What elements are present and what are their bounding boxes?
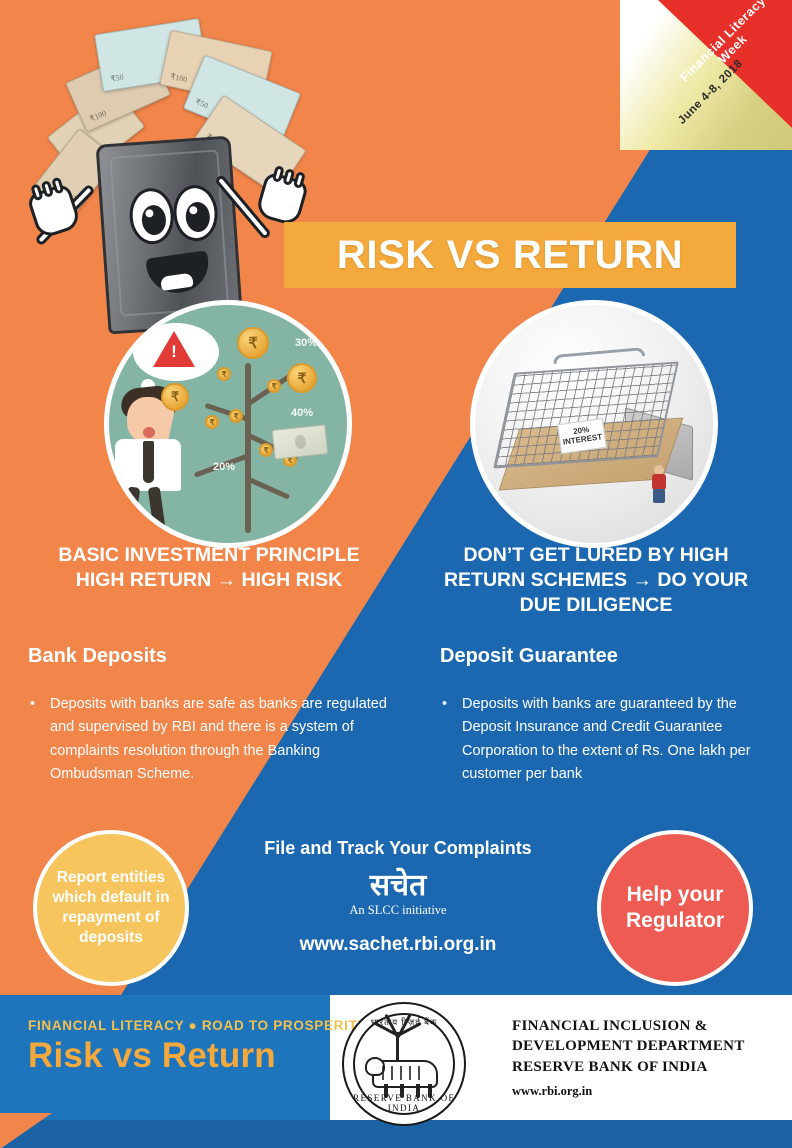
list-item: Deposits with banks are guaranteed by th… — [462, 693, 780, 787]
poster-title: RISK VS RETURN — [337, 233, 683, 278]
help-your-regulator-badge: Help your Regulator — [597, 830, 753, 986]
tree-percent-label: 40% — [291, 407, 313, 419]
complaints-block: File and Track Your Complaints सचेत An S… — [226, 838, 570, 956]
footer-kicker: FINANCIAL LITERACY ● ROAD TO PROSPERITY — [28, 1018, 367, 1033]
poster-root: Financial Literacy Week June 4-8, 2018 ₹… — [0, 0, 792, 1148]
trap-wire-cage — [493, 361, 679, 468]
footer-department: FINANCIAL INCLUSION & DEVELOPMENT DEPART… — [512, 1016, 745, 1077]
rupee-coin-icon: ₹ — [205, 415, 219, 429]
rupee-coin-icon: ₹ — [161, 383, 189, 411]
tiny-figure — [651, 465, 667, 503]
rupee-coin-icon: ₹ — [237, 327, 269, 359]
rupee-coin-icon: ₹ — [267, 379, 281, 393]
right-bullet-list: Deposits with banks are guaranteed by th… — [440, 693, 780, 787]
rupee-coin-icon: ₹ — [287, 363, 317, 393]
tiger-icon — [372, 1060, 438, 1088]
right-heading-line3: DUE DILIGENCE — [408, 593, 784, 618]
rupee-coin-icon: ₹ — [217, 367, 231, 381]
left-subheading: Bank Deposits — [28, 645, 167, 668]
sachet-subtitle: An SLCC initiative — [226, 903, 570, 918]
wallet-mascot-illustration: ₹100 ₹100 ₹50 ₹100 ₹50 ₹2000 ₹100 — [14, 10, 304, 320]
department-line3: RESERVE BANK OF INDIA — [512, 1057, 745, 1077]
tree-percent-label: 30% — [295, 337, 317, 349]
tree-percent-label: 50% — [193, 337, 215, 349]
investor-tie — [143, 441, 154, 483]
left-heading-line1: BASIC INVESTMENT PRINCIPLE — [14, 543, 404, 568]
right-subheading: Deposit Guarantee — [440, 645, 618, 668]
sachet-logo: सचेत — [226, 871, 570, 901]
rupee-coin-icon: ₹ — [229, 409, 243, 423]
warning-triangle-icon — [153, 331, 195, 367]
left-column-heading: BASIC INVESTMENT PRINCIPLE HIGH RETURN →… — [14, 543, 404, 593]
department-line1: FINANCIAL INCLUSION & — [512, 1016, 745, 1036]
sachet-url[interactable]: www.sachet.rbi.org.in — [226, 934, 570, 956]
banknote-icon — [272, 424, 329, 459]
complaints-title: File and Track Your Complaints — [226, 838, 570, 859]
list-item: Deposits with banks are safe as banks ar… — [50, 693, 406, 787]
trap-handle-bar — [553, 347, 645, 364]
corner-ribbon: Financial Literacy Week June 4-8, 2018 — [620, 0, 792, 150]
money-tree-illustration: ₹ ₹ ₹ ₹ ₹ ₹ ₹ ₹ ₹ 50% 30% 40% 20% — [104, 300, 352, 548]
mousetrap-illustration: 20% INTEREST — [470, 300, 718, 548]
money-tree-trunk — [245, 363, 251, 533]
report-entities-badge: Report entities which default in repayme… — [33, 830, 189, 986]
rbi-seal-logo: भारतीय रिज़र्व बैंक RESERVE BANK OF INDI… — [342, 1002, 466, 1126]
investor-legs — [121, 487, 173, 535]
right-heading-line1: DON’T GET LURED BY HIGH — [408, 543, 784, 568]
seal-bottom-text: RESERVE BANK OF INDIA — [344, 1093, 464, 1113]
rupee-coin-icon: ₹ — [259, 443, 273, 457]
department-line2: DEVELOPMENT DEPARTMENT — [512, 1036, 745, 1056]
investor-mouth — [143, 427, 155, 438]
right-column-heading: DON’T GET LURED BY HIGH RETURN SCHEMES →… — [408, 543, 784, 618]
footer-title: Risk vs Return — [28, 1036, 276, 1076]
tree-percent-label: 20% — [213, 461, 235, 473]
left-bullet-list: Deposits with banks are safe as banks ar… — [28, 693, 406, 787]
footer-url[interactable]: www.rbi.org.in — [512, 1084, 592, 1099]
left-heading-line2: HIGH RETURN → HIGH RISK — [14, 568, 404, 593]
poster-title-band: RISK VS RETURN — [284, 222, 736, 288]
right-heading-line2: RETURN SCHEMES → DO YOUR — [408, 568, 784, 593]
trap-bait-label: 20% INTEREST — [557, 418, 607, 454]
tree-branch — [248, 477, 290, 499]
